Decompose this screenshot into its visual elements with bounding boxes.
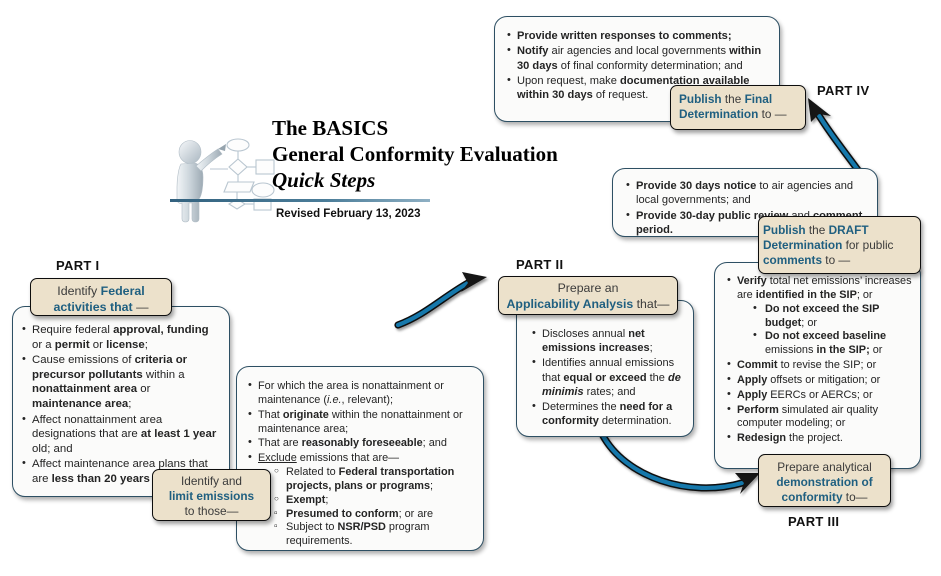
list-item: Require federal approval, funding or a p… — [21, 323, 220, 352]
limit-line-2: limit emissions — [153, 489, 270, 504]
list-item: Cause emissions of criteria or precursor… — [21, 353, 220, 411]
sub-list-item: Subject to NSR/PSD program requirements. — [274, 521, 474, 549]
limit-line-3: to those— — [153, 504, 270, 519]
draft-heading-post: to — — [822, 253, 850, 267]
list-item: That originate within the nonattainment … — [247, 409, 474, 437]
final-heading-post: to — — [758, 107, 786, 121]
page-title: The BASICS General Conformity Evaluation… — [272, 116, 612, 195]
part-2-heading-post: that— — [633, 297, 669, 311]
part-2-heading-pre: Prepare an — [499, 281, 677, 297]
draft-heading-mid: for public — [842, 238, 893, 252]
arrow-part3-to-part4 — [808, 98, 858, 170]
part-3-heading-post: to— — [843, 490, 868, 504]
part-2-heading-highlight: Applicability Analysis — [507, 297, 634, 311]
title-line-3: Quick Steps — [272, 167, 612, 194]
final-determination-heading-box[interactable]: Publish the Final Determination to — — [670, 85, 806, 130]
diagram-canvas: The BASICS General Conformity Evaluation… — [0, 0, 941, 576]
revised-date: Revised February 13, 2023 — [276, 208, 420, 220]
list-item: Discloses annual net emissions increases… — [531, 327, 684, 355]
list-item: Identifies annual emissions that equal o… — [531, 356, 684, 399]
part-2-label: PART II — [516, 257, 563, 272]
limit-emissions-heading-box[interactable]: Identify and limit emissions to those— — [152, 469, 271, 521]
part-1-heading-post: — — [133, 300, 149, 314]
sub-list-item: Related to Federal transportation projec… — [274, 466, 474, 494]
list-item: Perform simulated air quality computer m… — [726, 404, 912, 432]
exclude-sub-list: Related to Federal transportation projec… — [258, 466, 474, 549]
list-item: Apply EERCs or AERCs; or — [726, 389, 912, 403]
part-3-sub-list: Do not exceed the SIP budget; or Do not … — [737, 303, 912, 358]
part-4-label: PART IV — [817, 83, 869, 98]
sub-list-item: Exempt; — [274, 494, 474, 508]
sub-list-item: Presumed to conform; or are — [274, 508, 474, 522]
list-item: Commit to revise the SIP; or — [726, 359, 912, 373]
part-3-heading-pre: Prepare analytical — [759, 460, 890, 475]
list-item: That are reasonably foreseeable; and — [247, 437, 474, 451]
list-item: Provide 30 days notice to air agencies a… — [625, 179, 868, 208]
draft-heading-comments: comments — [763, 253, 822, 267]
part-3-body-box: Verify total net emissions’ increases ar… — [714, 262, 921, 469]
part-2-heading-line2: Applicability Analysis that— — [499, 297, 677, 313]
final-heading-publish: Publish — [679, 92, 722, 106]
part-2-bullet-list: Discloses annual net emissions increases… — [531, 327, 684, 428]
list-item: Redesign the project. — [726, 432, 912, 446]
part-2-heading-box[interactable]: Prepare an Applicability Analysis that— — [498, 276, 678, 315]
sub-list-item: Do not exceed baseline emissions in the … — [753, 330, 912, 358]
part-1-heading-pre: Identify — [57, 284, 100, 298]
sub-list-item: Do not exceed the SIP budget; or — [753, 303, 912, 331]
verify-text: Verify total net emissions’ increases ar… — [737, 275, 912, 301]
list-item-exclude: Exclude emissions that are— Related to F… — [247, 452, 474, 549]
list-item: Affect nonattainment area designations t… — [21, 413, 220, 457]
part-1-heading-box[interactable]: Identify Federal activities that — — [30, 278, 172, 316]
title-divider — [170, 199, 430, 202]
part-3-heading-box[interactable]: Prepare analytical demonstration of conf… — [758, 454, 891, 507]
list-item: Verify total net emissions’ increases ar… — [726, 275, 912, 358]
part-1-label: PART I — [56, 258, 99, 273]
final-heading-sep: the — [722, 92, 745, 106]
draft-heading-publish: Publish — [763, 223, 806, 237]
limit-emissions-body-box: For which the area is nonattainment or m… — [236, 366, 484, 551]
exclude-lead: Exclude emissions that are— — [258, 452, 399, 464]
part-3-bullet-list: Verify total net emissions’ increases ar… — [726, 275, 912, 446]
arrow-part1-to-part2 — [398, 272, 487, 325]
part-3-heading-line2: demonstration of conformity to— — [759, 475, 890, 505]
draft-heading-the: the — [806, 223, 829, 237]
list-item: For which the area is nonattainment or m… — [247, 380, 474, 408]
list-item: Notify air agencies and local government… — [506, 44, 770, 73]
list-item: Apply offsets or mitigation; or — [726, 374, 912, 388]
person-pointing-at-flowchart-illustration — [168, 133, 276, 225]
part-1-bullet-list: Require federal approval, funding or a p… — [21, 323, 220, 487]
draft-determination-heading-box[interactable]: Publish the DRAFT Determination for publ… — [758, 216, 921, 274]
part-2-body-box: Discloses annual net emissions increases… — [516, 300, 694, 437]
part-3-label: PART III — [788, 514, 839, 529]
title-line-2: General Conformity Evaluation — [272, 142, 612, 168]
list-item: Provide written responses to comments; — [506, 29, 770, 43]
limit-emissions-bullet-list: For which the area is nonattainment or m… — [247, 380, 474, 549]
limit-line-1: Identify and — [153, 474, 270, 489]
list-item: Determines the need for a conformity det… — [531, 400, 684, 428]
